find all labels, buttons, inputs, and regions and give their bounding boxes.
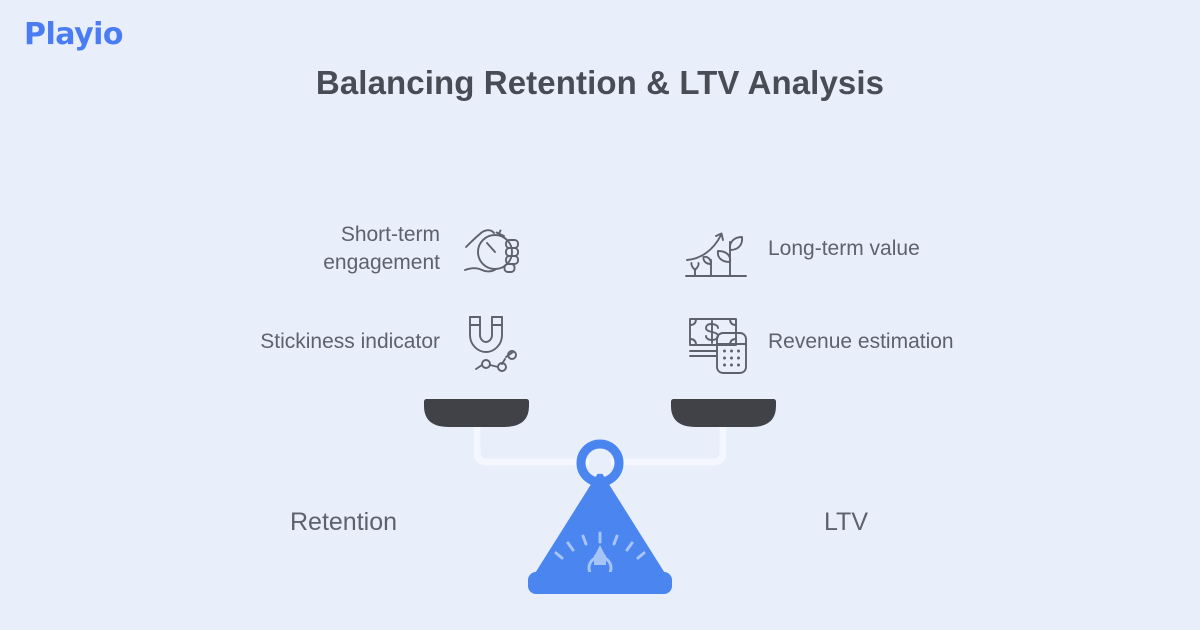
feature-long-term-value: Long-term value xyxy=(680,212,1000,286)
feature-label: Long-term value xyxy=(768,235,920,263)
scale-pan-right xyxy=(671,399,776,427)
feature-revenue-estimation: Revenue estimation xyxy=(680,305,1010,379)
money-calculator-icon xyxy=(680,305,754,379)
feature-stickiness-indicator: Stickiness indicator xyxy=(208,305,528,379)
feature-label: Stickiness indicator xyxy=(260,328,440,356)
ring-pivot-icon xyxy=(581,444,619,482)
feature-label: Short-term engagement xyxy=(323,221,440,276)
growing-plant-arrow-icon xyxy=(680,212,754,286)
brand-logo: Playio xyxy=(24,20,123,50)
scale-pan-left xyxy=(424,399,529,427)
infographic-canvas: Playio Balancing Retention & LTV Analysi… xyxy=(0,0,1200,630)
stopwatch-hand-icon xyxy=(454,212,528,286)
side-label-ltv: LTV xyxy=(824,508,868,537)
scale-beam xyxy=(477,420,723,462)
magnet-chart-icon xyxy=(454,305,528,379)
feature-short-term-engagement: Short-term engagement xyxy=(228,212,528,286)
feature-label: Revenue estimation xyxy=(768,328,954,356)
gauge-triangle-base-icon xyxy=(528,470,672,594)
side-label-retention: Retention xyxy=(290,508,397,537)
page-title: Balancing Retention & LTV Analysis xyxy=(0,64,1200,102)
